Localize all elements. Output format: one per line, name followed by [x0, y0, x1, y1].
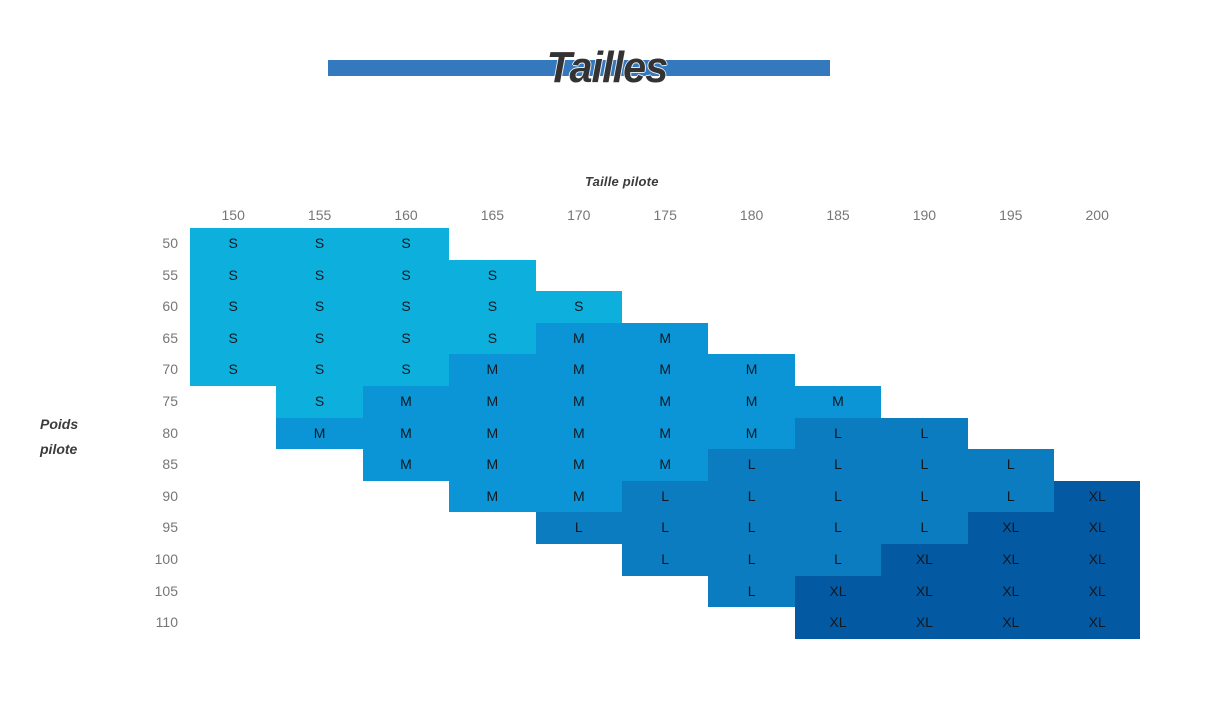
cell-100-180: L	[708, 544, 794, 576]
cell-70-170: M	[536, 354, 622, 386]
cell-90-170: M	[536, 481, 622, 513]
cell-80-190: L	[881, 418, 967, 450]
row-header-95: 95	[110, 512, 178, 544]
cell-50-150: S	[190, 228, 276, 260]
row-header-60: 60	[110, 291, 178, 323]
cell-105-180: L	[708, 576, 794, 608]
cell-55-155: S	[276, 260, 362, 292]
cell-80-180: M	[708, 418, 794, 450]
cell-105-195: XL	[968, 576, 1054, 608]
column-header-155: 155	[276, 204, 362, 226]
cell-80-175: M	[622, 418, 708, 450]
cell-85-190: L	[881, 449, 967, 481]
cell-100-195: XL	[968, 544, 1054, 576]
column-header-190: 190	[881, 204, 967, 226]
cell-100-200: XL	[1054, 544, 1140, 576]
cell-75-170: M	[536, 386, 622, 418]
row-header-80: 80	[110, 418, 178, 450]
cell-70-175: M	[622, 354, 708, 386]
cell-90-165: M	[449, 481, 535, 513]
row-header-105: 105	[110, 576, 178, 608]
cell-60-155: S	[276, 291, 362, 323]
column-header-175: 175	[622, 204, 708, 226]
cell-65-155: S	[276, 323, 362, 355]
row-header-75: 75	[110, 386, 178, 418]
cell-70-155: S	[276, 354, 362, 386]
cell-80-160: M	[363, 418, 449, 450]
cell-105-185: XL	[795, 576, 881, 608]
cell-75-180: M	[708, 386, 794, 418]
cell-80-185: L	[795, 418, 881, 450]
cell-85-195: L	[968, 449, 1054, 481]
cell-110-190: XL	[881, 607, 967, 639]
cell-75-155: S	[276, 386, 362, 418]
cell-50-160: S	[363, 228, 449, 260]
row-header-110: 110	[110, 607, 178, 639]
column-header-150: 150	[190, 204, 276, 226]
cell-110-195: XL	[968, 607, 1054, 639]
cell-70-180: M	[708, 354, 794, 386]
cell-95-190: L	[881, 512, 967, 544]
cell-65-170: M	[536, 323, 622, 355]
x-axis-title: Taille pilote	[585, 174, 745, 189]
cell-90-180: L	[708, 481, 794, 513]
cell-80-170: M	[536, 418, 622, 450]
cell-85-185: L	[795, 449, 881, 481]
cell-90-195: L	[968, 481, 1054, 513]
row-header-70: 70	[110, 354, 178, 386]
cell-65-150: S	[190, 323, 276, 355]
row-header-90: 90	[110, 481, 178, 513]
column-header-195: 195	[968, 204, 1054, 226]
cell-60-165: S	[449, 291, 535, 323]
cell-90-185: L	[795, 481, 881, 513]
column-header-160: 160	[363, 204, 449, 226]
column-header-180: 180	[708, 204, 794, 226]
row-header-55: 55	[110, 260, 178, 292]
cell-90-175: L	[622, 481, 708, 513]
cell-95-200: XL	[1054, 512, 1140, 544]
cell-70-160: S	[363, 354, 449, 386]
cell-95-185: L	[795, 512, 881, 544]
cell-55-150: S	[190, 260, 276, 292]
cell-60-150: S	[190, 291, 276, 323]
cell-95-175: L	[622, 512, 708, 544]
cell-95-170: L	[536, 512, 622, 544]
cell-90-200: XL	[1054, 481, 1140, 513]
column-header-165: 165	[449, 204, 535, 226]
cell-85-165: M	[449, 449, 535, 481]
cell-80-165: M	[449, 418, 535, 450]
cell-70-150: S	[190, 354, 276, 386]
cell-65-175: M	[622, 323, 708, 355]
cell-60-160: S	[363, 291, 449, 323]
cell-75-160: M	[363, 386, 449, 418]
cell-65-165: S	[449, 323, 535, 355]
cell-95-195: XL	[968, 512, 1054, 544]
cell-55-165: S	[449, 260, 535, 292]
column-header-170: 170	[536, 204, 622, 226]
cell-85-175: M	[622, 449, 708, 481]
cell-75-165: M	[449, 386, 535, 418]
cell-85-180: L	[708, 449, 794, 481]
cell-70-165: M	[449, 354, 535, 386]
row-header-85: 85	[110, 449, 178, 481]
cell-80-155: M	[276, 418, 362, 450]
cell-90-190: L	[881, 481, 967, 513]
cell-105-200: XL	[1054, 576, 1140, 608]
cell-105-190: XL	[881, 576, 967, 608]
column-header-200: 200	[1054, 204, 1140, 226]
size-chart: Taille pilote Poids pilote 1501551601651…	[0, 0, 1214, 727]
cell-110-200: XL	[1054, 607, 1140, 639]
cell-100-175: L	[622, 544, 708, 576]
cell-75-175: M	[622, 386, 708, 418]
cell-65-160: S	[363, 323, 449, 355]
row-header-65: 65	[110, 323, 178, 355]
cell-60-170: S	[536, 291, 622, 323]
cell-95-180: L	[708, 512, 794, 544]
cell-55-160: S	[363, 260, 449, 292]
row-header-100: 100	[110, 544, 178, 576]
cell-110-185: XL	[795, 607, 881, 639]
column-header-185: 185	[795, 204, 881, 226]
cell-50-155: S	[276, 228, 362, 260]
cell-85-160: M	[363, 449, 449, 481]
cell-100-185: L	[795, 544, 881, 576]
row-header-50: 50	[110, 228, 178, 260]
cell-85-170: M	[536, 449, 622, 481]
heatmap-grid: SSSSSSSSSSSSSSSSMMSSSMMMMSMMMMMMMMMMMMLL…	[190, 228, 1140, 639]
cell-75-185: M	[795, 386, 881, 418]
cell-100-190: XL	[881, 544, 967, 576]
